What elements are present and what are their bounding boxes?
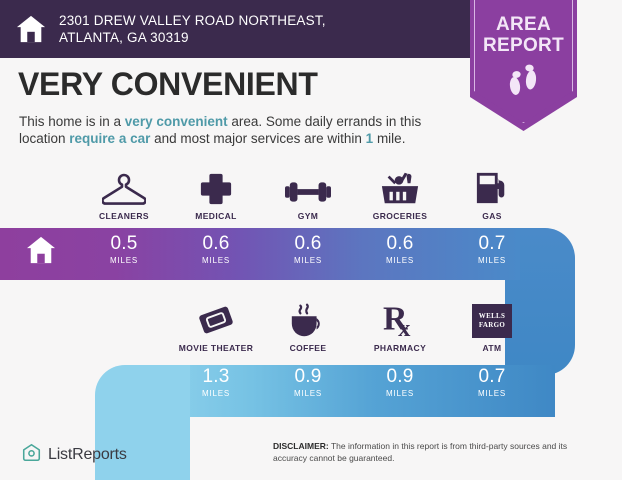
wells-fargo-logo: WELLS FARGO [446,300,538,338]
wells-fargo-box: WELLS FARGO [472,304,512,338]
value-unit: MILES [78,256,170,265]
icon-cell-coffee: COFFEE [262,300,354,353]
icon-label: CLEANERS [78,211,170,221]
value-cell-coffee: 0.9 MILES [262,366,354,398]
badge-line-1: AREA [470,14,577,35]
subtitle-part-1: This home is in a [19,114,125,129]
errand-icons-row-2: MOVIE THEATER COFFEE R x [170,300,538,353]
value-number: 0.5 [78,233,170,255]
distance-values-row-2: 1.3 MILES 0.9 MILES 0.9 MILES 0.7 MILES [170,366,538,398]
value-number: 0.6 [354,233,446,255]
value-cell-pharmacy: 0.9 MILES [354,366,446,398]
brand-name: ListReports [48,446,127,464]
value-unit: MILES [262,389,354,398]
movie-ticket-icon [170,300,262,338]
value-cell-movie-theater: 1.3 MILES [170,366,262,398]
icon-label: ATM [446,343,538,353]
subtitle-part-3: and most major services are within [150,131,365,146]
icon-cell-gym: GYM [262,168,354,221]
page-subtitle: This home is in a very convenient area. … [19,113,444,147]
value-unit: MILES [446,389,538,398]
area-report-page: 2301 DREW VALLEY ROAD NORTHEAST, ATLANTA… [0,0,622,480]
icon-cell-gas: GAS [446,168,538,221]
area-report-badge-label: AREA REPORT [470,14,577,56]
badge-line-2: REPORT [470,35,577,56]
value-cell-gas: 0.7 MILES [446,233,538,265]
value-number: 0.6 [170,233,262,255]
hanger-icon [78,168,170,206]
value-cell-gym: 0.6 MILES [262,233,354,265]
header-bar: 2301 DREW VALLEY ROAD NORTHEAST, ATLANTA… [0,0,497,58]
listreports-logo-icon [22,443,41,467]
wells-fargo-line-1: WELLS [479,312,505,321]
svg-text:x: x [398,315,411,338]
footprints-icon [470,62,577,102]
house-icon [16,14,46,44]
rx-icon: R x [354,300,446,338]
value-unit: MILES [170,389,262,398]
icon-label: GAS [446,211,538,221]
subtitle-highlight-2: require a car [69,131,150,146]
value-unit: MILES [170,256,262,265]
value-cell-medical: 0.6 MILES [170,233,262,265]
disclaimer-label: DISCLAIMER: [273,441,329,451]
value-unit: MILES [262,256,354,265]
coffee-cup-icon [262,300,354,338]
icon-cell-cleaners: CLEANERS [78,168,170,221]
icon-label: MOVIE THEATER [170,343,262,353]
medical-cross-icon [170,168,262,206]
house-icon-row [26,236,56,264]
value-unit: MILES [354,256,446,265]
value-number: 1.3 [170,366,262,388]
icon-cell-movie-theater: MOVIE THEATER [170,300,262,353]
value-cell-groceries: 0.6 MILES [354,233,446,265]
wells-fargo-line-2: FARGO [479,321,505,330]
icon-label: GYM [262,211,354,221]
value-cell-cleaners: 0.5 MILES [78,233,170,265]
disclaimer: DISCLAIMER: The information in this repo… [273,441,593,464]
page-title: VERY CONVENIENT [18,66,318,103]
value-number: 0.7 [446,233,538,255]
icon-cell-medical: MEDICAL [170,168,262,221]
value-number: 0.9 [262,366,354,388]
icon-label: GROCERIES [354,211,446,221]
icon-label: PHARMACY [354,343,446,353]
subtitle-part-4: mile. [373,131,405,146]
distance-values-row-1: 0.5 MILES 0.6 MILES 0.6 MILES 0.6 MILES … [78,233,538,265]
icon-cell-pharmacy: R x PHARMACY [354,300,446,353]
value-number: 0.9 [354,366,446,388]
icon-label: MEDICAL [170,211,262,221]
grocery-basket-icon [354,168,446,206]
subtitle-highlight-1: very convenient [125,114,228,129]
value-cell-atm: 0.7 MILES [446,366,538,398]
value-number: 0.6 [262,233,354,255]
gas-pump-icon [446,168,538,206]
value-unit: MILES [446,256,538,265]
errand-icons-row-1: CLEANERS MEDICAL [78,168,538,221]
value-unit: MILES [354,389,446,398]
dumbbell-icon [262,168,354,206]
icon-cell-groceries: GROCERIES [354,168,446,221]
listreports-brand: ListReports [22,443,127,467]
property-address: 2301 DREW VALLEY ROAD NORTHEAST, ATLANTA… [59,12,389,46]
icon-cell-atm: WELLS FARGO ATM [446,300,538,353]
value-number: 0.7 [446,366,538,388]
icon-label: COFFEE [262,343,354,353]
